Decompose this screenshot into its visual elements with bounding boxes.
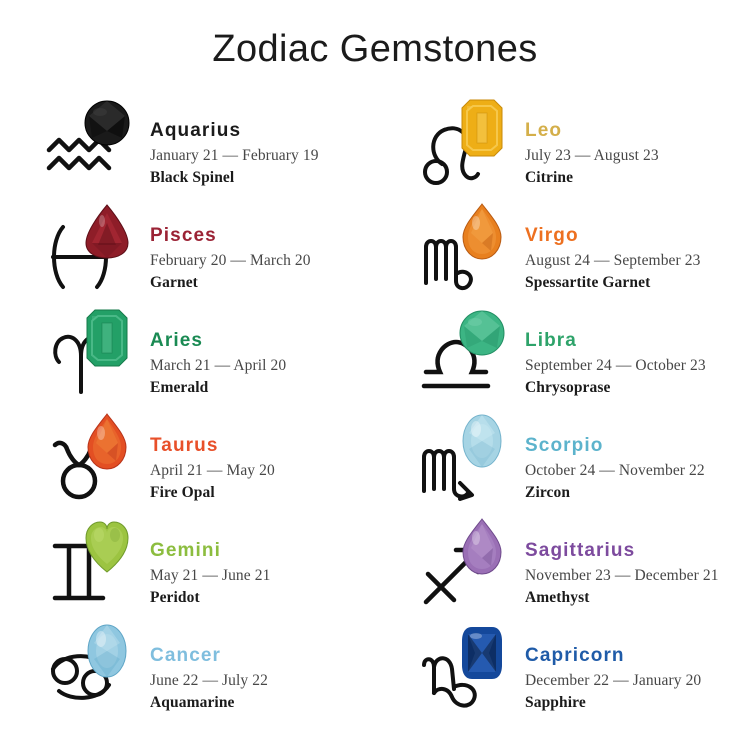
page-title: Zodiac Gemstones <box>0 0 750 77</box>
date-range-virgo: August 24 — September 23 <box>525 250 750 272</box>
symbol-gem-cluster-scorpio <box>413 413 525 505</box>
stone-name-gemini: Peridot <box>150 587 375 609</box>
stone-name-cancer: Aquamarine <box>150 692 375 714</box>
date-range-scorpio: October 24 — November 22 <box>525 460 750 482</box>
symbol-gem-cluster-taurus <box>38 413 150 505</box>
stone-name-capricorn: Sapphire <box>525 692 750 714</box>
pear-cut-gem-icon <box>459 203 505 265</box>
symbol-gem-cluster-gemini <box>38 518 150 610</box>
sign-name-scorpio: Scorpio <box>525 435 750 457</box>
pear-cut-gem-icon <box>84 413 130 475</box>
symbol-gem-cluster-leo <box>413 98 525 190</box>
zodiac-entry-pisces: PiscesFebruary 20 — March 20Garnet <box>0 197 375 302</box>
stone-name-scorpio: Zircon <box>525 482 750 504</box>
sign-name-virgo: Virgo <box>525 225 750 247</box>
zodiac-info-capricorn: CapricornDecember 22 — January 20Sapphir… <box>525 623 750 715</box>
sign-name-gemini: Gemini <box>150 540 375 562</box>
trillion-cut-gem-icon <box>84 203 130 265</box>
sign-name-cancer: Cancer <box>150 645 375 667</box>
zodiac-entry-sagittarius: SagittariusNovember 23 — December 21Amet… <box>375 512 750 617</box>
zodiac-info-taurus: TaurusApril 21 — May 20Fire Opal <box>150 413 375 505</box>
heart-cut-gem-icon <box>84 518 130 580</box>
sign-name-pisces: Pisces <box>150 225 375 247</box>
zodiac-info-scorpio: ScorpioOctober 24 — November 22Zircon <box>525 413 750 505</box>
zodiac-info-leo: LeoJuly 23 — August 23Citrine <box>525 98 750 190</box>
oval-cut-gem-icon <box>84 623 130 685</box>
stone-name-virgo: Spessartite Garnet <box>525 272 750 294</box>
zodiac-info-aquarius: AquariusJanuary 21 — February 19Black Sp… <box>150 98 375 190</box>
stone-name-taurus: Fire Opal <box>150 482 375 504</box>
symbol-gem-cluster-cancer <box>38 623 150 715</box>
symbol-gem-cluster-pisces <box>38 203 150 295</box>
emerald-cut-gem-icon <box>84 308 130 370</box>
zodiac-info-virgo: VirgoAugust 24 — September 23Spessartite… <box>525 203 750 295</box>
cushion-cut-gem-icon <box>459 623 505 685</box>
date-range-capricorn: December 22 — January 20 <box>525 670 750 692</box>
date-range-gemini: May 21 — June 21 <box>150 565 375 587</box>
sign-name-leo: Leo <box>525 120 750 142</box>
zodiac-entry-cancer: CancerJune 22 — July 22Aquamarine <box>0 617 375 722</box>
date-range-leo: July 23 — August 23 <box>525 145 750 167</box>
sign-name-taurus: Taurus <box>150 435 375 457</box>
date-range-cancer: June 22 — July 22 <box>150 670 375 692</box>
emerald-cut-gem-icon <box>459 98 505 160</box>
sign-name-libra: Libra <box>525 330 750 352</box>
symbol-gem-cluster-virgo <box>413 203 525 295</box>
zodiac-grid: AquariusJanuary 21 — February 19Black Sp… <box>0 92 750 732</box>
round-brilliant-gem-icon <box>84 98 130 160</box>
zodiac-entry-capricorn: CapricornDecember 22 — January 20Sapphir… <box>375 617 750 722</box>
date-range-aquarius: January 21 — February 19 <box>150 145 375 167</box>
zodiac-entry-scorpio: ScorpioOctober 24 — November 22Zircon <box>375 407 750 512</box>
symbol-gem-cluster-libra <box>413 308 525 400</box>
symbol-gem-cluster-sagittarius <box>413 518 525 610</box>
oval-cut-gem-icon <box>459 413 505 475</box>
sign-name-aries: Aries <box>150 330 375 352</box>
symbol-gem-cluster-capricorn <box>413 623 525 715</box>
zodiac-entry-gemini: GeminiMay 21 — June 21Peridot <box>0 512 375 617</box>
date-range-libra: September 24 — October 23 <box>525 355 750 377</box>
zodiac-entry-aquarius: AquariusJanuary 21 — February 19Black Sp… <box>0 92 375 197</box>
stone-name-leo: Citrine <box>525 167 750 189</box>
zodiac-info-aries: AriesMarch 21 — April 20Emerald <box>150 308 375 400</box>
stone-name-sagittarius: Amethyst <box>525 587 750 609</box>
zodiac-entry-taurus: TaurusApril 21 — May 20Fire Opal <box>0 407 375 512</box>
sign-name-capricorn: Capricorn <box>525 645 750 667</box>
zodiac-entry-virgo: VirgoAugust 24 — September 23Spessartite… <box>375 197 750 302</box>
stone-name-aries: Emerald <box>150 377 375 399</box>
symbol-gem-cluster-aquarius <box>38 98 150 190</box>
zodiac-entry-libra: LibraSeptember 24 — October 23Chrysopras… <box>375 302 750 407</box>
zodiac-info-gemini: GeminiMay 21 — June 21Peridot <box>150 518 375 610</box>
zodiac-info-cancer: CancerJune 22 — July 22Aquamarine <box>150 623 375 715</box>
zodiac-info-pisces: PiscesFebruary 20 — March 20Garnet <box>150 203 375 295</box>
stone-name-pisces: Garnet <box>150 272 375 294</box>
zodiac-info-libra: LibraSeptember 24 — October 23Chrysopras… <box>525 308 750 400</box>
date-range-taurus: April 21 — May 20 <box>150 460 375 482</box>
pear-cut-gem-icon <box>459 518 505 580</box>
zodiac-info-sagittarius: SagittariusNovember 23 — December 21Amet… <box>525 518 750 610</box>
stone-name-aquarius: Black Spinel <box>150 167 375 189</box>
date-range-aries: March 21 — April 20 <box>150 355 375 377</box>
sign-name-aquarius: Aquarius <box>150 120 375 142</box>
stone-name-libra: Chrysoprase <box>525 377 750 399</box>
date-range-pisces: February 20 — March 20 <box>150 250 375 272</box>
date-range-sagittarius: November 23 — December 21 <box>525 565 750 587</box>
symbol-gem-cluster-aries <box>38 308 150 400</box>
sign-name-sagittarius: Sagittarius <box>525 540 750 562</box>
zodiac-entry-leo: LeoJuly 23 — August 23Citrine <box>375 92 750 197</box>
round-cabochon-gem-icon <box>459 308 505 370</box>
zodiac-entry-aries: AriesMarch 21 — April 20Emerald <box>0 302 375 407</box>
zodiac-gemstones-infographic: Zodiac Gemstones AquariusJanuary 21 — Fe… <box>0 0 750 750</box>
